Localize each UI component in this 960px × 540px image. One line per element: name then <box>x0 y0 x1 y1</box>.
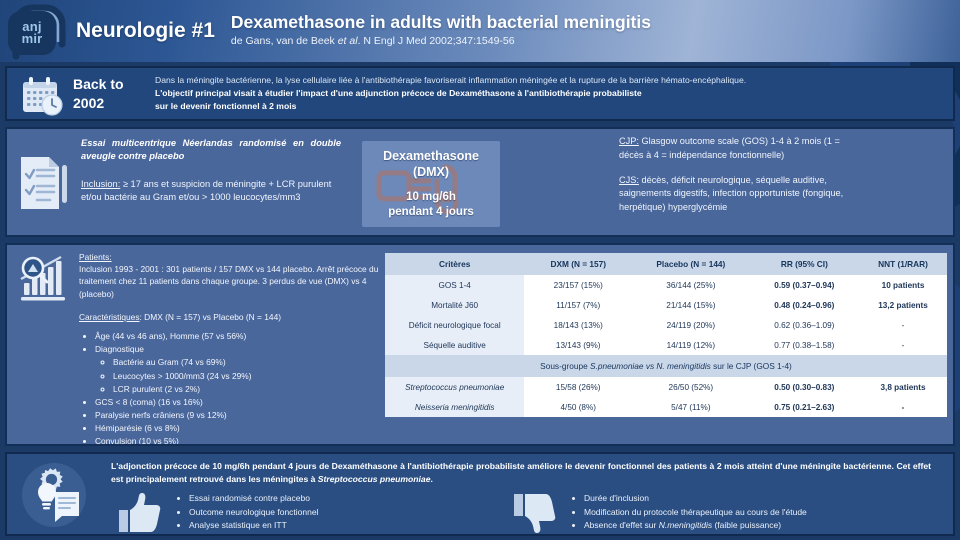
cell-placebo: 26/50 (52%) <box>632 377 750 397</box>
context-objective-line1: L'objectif principal visait à étudier l'… <box>155 87 845 100</box>
limitation-text-2: (faible puissance) <box>712 520 781 530</box>
cell-critere: Neisseria meningitidis <box>385 397 524 417</box>
calendar-clock-icon <box>21 76 65 116</box>
study-design: Essai multicentrique Néerlandas randomis… <box>81 137 341 164</box>
col-nnt: NNT (1/RAR) <box>859 253 947 275</box>
limitations-list: Durée d'inclusion Modification du protoc… <box>562 492 807 533</box>
list-item: Bactérie au Gram (74 vs 69%) <box>113 356 379 368</box>
cjs-text: décès, déficit neurologique, séquelle au… <box>619 175 843 213</box>
cell-dxm: 13/143 (9%) <box>524 335 632 355</box>
cell-placebo: 36/144 (25%) <box>632 275 750 295</box>
subgroup-header: Sous-groupe S.pneumoniae vs N. meningiti… <box>385 355 947 377</box>
list-item: Leucocytes > 1000/mm3 (24 vs 29%) <box>113 370 379 382</box>
characteristics-block: Caractéristiques: DMX (N = 157) vs Place… <box>79 311 379 323</box>
list-item: Essai randomisé contre placebo <box>189 492 318 506</box>
diagnostic-label: Diagnostique <box>95 344 144 354</box>
dmx-dose-block: 10 mg/6h pendant 4 jours <box>388 190 474 219</box>
list-item: Hémiparésie (6 vs 8%) <box>95 422 379 434</box>
cell-nnt: 10 patients <box>859 275 947 295</box>
col-rr: RR (95% CI) <box>750 253 859 275</box>
context-body: Dans la méningite bactérienne, la lyse c… <box>155 74 845 113</box>
list-item: Analyse statistique en ITT <box>189 519 318 533</box>
citation-authors: de Gans, van de Beek <box>231 35 338 47</box>
conclusion-text-1: L'adjonction précoce de 10 mg/6h pendant… <box>111 461 931 484</box>
col-criteres: Critères <box>385 253 524 275</box>
list-item: Absence d'effet sur N.meningitidis (faib… <box>584 519 807 533</box>
cell-dxm: 15/58 (26%) <box>524 377 632 397</box>
clipboard-check-icon <box>17 153 69 213</box>
table-row: Neisseria meningitidis 4/50 (8%) 5/47 (1… <box>385 397 947 417</box>
results-band: Patients: Inclusion 1993 - 2001 : 301 pa… <box>5 243 955 446</box>
context-title-line2: 2002 <box>73 94 151 113</box>
table-header-row: Critères DXM (N = 157) Placebo (N = 144)… <box>385 253 947 275</box>
cjp-text: Glasgow outcome scale (GOS) 1-4 à 2 mois… <box>619 136 840 160</box>
inclusion-criteria: Inclusion: ≥ 17 ans et suspicion de méni… <box>81 178 341 205</box>
thumbs-up-icon <box>111 492 167 534</box>
series-label: Neurologie #1 <box>76 19 215 43</box>
methods-band: Essai multicentrique Néerlandas randomis… <box>5 127 955 237</box>
context-objective-line2: sur le devenir fonctionnel à 2 mois <box>155 100 845 113</box>
logo-badge: anj mir <box>8 11 56 55</box>
cell-critere: Séquelle auditive <box>385 335 524 355</box>
cell-critere: Déficit neurologique focal <box>385 315 524 335</box>
patients-block: Patients: Inclusion 1993 - 2001 : 301 pa… <box>79 251 379 300</box>
cell-dxm: 4/50 (8%) <box>524 397 632 417</box>
cell-dxm: 11/157 (7%) <box>524 295 632 315</box>
methods-endpoints: CJP: Glasgow outcome scale (GOS) 1-4 à 2… <box>619 135 859 226</box>
limitation-text-italic: N.meningitidis <box>659 520 712 530</box>
table-row: Séquelle auditive 13/143 (9%) 14/119 (12… <box>385 335 947 355</box>
dmx-arm-card: Dexamethasone (DMX) 10 mg/6h pendant 4 j… <box>362 141 500 227</box>
strengths-list: Essai randomisé contre placebo Outcome n… <box>167 492 318 533</box>
subgroup-text-1: Sous-groupe <box>540 361 590 371</box>
diagnostic-sublist: Bactérie au Gram (74 vs 69%) Leucocytes … <box>95 356 379 395</box>
context-band: Back to 2002 Dans la méningite bactérien… <box>5 66 955 121</box>
characteristics-label: Caractéristiques <box>79 312 140 322</box>
col-placebo: Placebo (N = 144) <box>632 253 750 275</box>
logo-text-bottom: mir <box>22 33 43 45</box>
context-paragraph: Dans la méningite bactérienne, la lyse c… <box>155 74 845 87</box>
citation: de Gans, van de Beek et al. N Engl J Med… <box>231 35 651 49</box>
page-header: anj mir Neurologie #1 Dexamethasone in a… <box>0 0 960 62</box>
cell-placebo: 24/119 (20%) <box>632 315 750 335</box>
context-title-line1: Back to <box>73 75 151 94</box>
conclusion-text-italic: Streptococcus pneumoniae <box>318 474 431 484</box>
cjs-label: CJS: <box>619 175 639 185</box>
limitations-column: Durée d'inclusion Modification du protoc… <box>506 492 807 534</box>
characteristics-text: : DMX (N = 157) vs Placebo (N = 144) <box>140 312 282 322</box>
subgroup-text-italic: S.pneumoniae vs N. meningitidis <box>590 361 711 371</box>
strengths-column: Essai randomisé contre placebo Outcome n… <box>111 492 506 534</box>
cell-nnt: 13,2 patients <box>859 295 947 315</box>
cell-nnt: - <box>859 335 947 355</box>
brand-logo[interactable]: anj mir <box>0 0 72 62</box>
table-row: Streptococcus pneumoniae 15/58 (26%) 26/… <box>385 377 947 397</box>
list-item: Convulsion (10 vs 5%) <box>95 435 379 446</box>
lightbulb-gear-document-icon <box>21 462 87 528</box>
list-item: Outcome neurologique fonctionnel <box>189 506 318 520</box>
slide-root: anj mir Neurologie #1 Dexamethasone in a… <box>0 0 960 540</box>
cell-rr: 0.75 (0.21–2.63) <box>750 397 859 417</box>
table-row: Déficit neurologique focal 18/143 (13%) … <box>385 315 947 335</box>
thumbs-down-icon <box>506 492 562 534</box>
cell-nnt: - <box>859 397 947 417</box>
dmx-name: Dexamethasone <box>383 149 479 165</box>
col-dxm: DXM (N = 157) <box>524 253 632 275</box>
citation-journal: . N Engl J Med 2002;347:1549-56 <box>358 35 515 47</box>
results-table-wrapper: Critères DXM (N = 157) Placebo (N = 144)… <box>385 253 947 417</box>
cell-critere: GOS 1-4 <box>385 275 524 295</box>
cell-rr: 0.62 (0.36–1.09) <box>750 315 859 335</box>
conclusion-band: L'adjonction précoce de 10 mg/6h pendant… <box>5 452 955 536</box>
table-subgroup-header-row: Sous-groupe S.pneumoniae vs N. meningiti… <box>385 355 947 377</box>
results-left: Patients: Inclusion 1993 - 2001 : 301 pa… <box>79 251 379 446</box>
conclusion-text: L'adjonction précoce de 10 mg/6h pendant… <box>111 460 931 486</box>
cell-dxm: 23/157 (15%) <box>524 275 632 295</box>
dmx-abbrev: (DMX) <box>383 165 479 181</box>
bar-chart-magnifier-icon <box>17 253 69 303</box>
list-item: Durée d'inclusion <box>584 492 807 506</box>
conclusion-text-2: . <box>431 474 433 484</box>
citation-etal: et al <box>338 35 358 47</box>
cell-critere: Streptococcus pneumoniae <box>385 377 524 397</box>
list-item: Paralysie nerfs crâniens (9 vs 12%) <box>95 409 379 421</box>
list-item: GCS < 8 (coma) (16 vs 16%) <box>95 396 379 408</box>
methods-left: Essai multicentrique Néerlandas randomis… <box>81 137 341 205</box>
list-item: Modification du protocole thérapeutique … <box>584 506 807 520</box>
cell-rr: 0.48 (0.24–0.96) <box>750 295 859 315</box>
cell-placebo: 14/119 (12%) <box>632 335 750 355</box>
context-title: Back to 2002 <box>73 75 151 113</box>
table-row: GOS 1-4 23/157 (15%) 36/144 (25%) 0.59 (… <box>385 275 947 295</box>
dmx-name-block: Dexamethasone (DMX) <box>383 149 479 180</box>
conclusion-columns: Essai randomisé contre placebo Outcome n… <box>111 492 941 534</box>
dmx-dose: 10 mg/6h <box>388 190 474 204</box>
cell-nnt: 3,8 patients <box>859 377 947 397</box>
cell-critere: Mortalité J60 <box>385 295 524 315</box>
characteristics-list: Âge (44 vs 46 ans), Homme (57 vs 56%) Di… <box>79 330 379 446</box>
table-row: Mortalité J60 11/157 (7%) 21/144 (15%) 0… <box>385 295 947 315</box>
cell-placebo: 21/144 (15%) <box>632 295 750 315</box>
list-item: Diagnostique Bactérie au Gram (74 vs 69%… <box>95 343 379 395</box>
page-title: Dexamethasone in adults with bacterial m… <box>231 13 651 33</box>
limitation-text-1: Absence d'effet sur <box>584 520 659 530</box>
cell-dxm: 18/143 (13%) <box>524 315 632 335</box>
cell-rr: 0.50 (0.30–0.83) <box>750 377 859 397</box>
list-item: LCR purulent (2 vs 2%) <box>113 383 379 395</box>
cjp-label: CJP: <box>619 136 639 146</box>
primary-endpoint: CJP: Glasgow outcome scale (GOS) 1-4 à 2… <box>619 135 859 163</box>
dmx-duration: pendant 4 jours <box>388 205 474 219</box>
subgroup-text-2: sur le CJP (GOS 1-4) <box>711 361 792 371</box>
patients-label: Patients: <box>79 251 379 263</box>
cell-nnt: - <box>859 315 947 335</box>
inclusion-label: Inclusion: <box>81 179 120 189</box>
list-item: Âge (44 vs 46 ans), Homme (57 vs 56%) <box>95 330 379 342</box>
cell-rr: 0.77 (0.38–1.58) <box>750 335 859 355</box>
cell-placebo: 5/47 (11%) <box>632 397 750 417</box>
patients-text: Inclusion 1993 - 2001 : 301 patients / 1… <box>79 263 379 300</box>
results-table: Critères DXM (N = 157) Placebo (N = 144)… <box>385 253 947 417</box>
cell-rr: 0.59 (0.37–0.94) <box>750 275 859 295</box>
secondary-endpoint: CJS: décès, déficit neurologique, séquel… <box>619 174 859 215</box>
